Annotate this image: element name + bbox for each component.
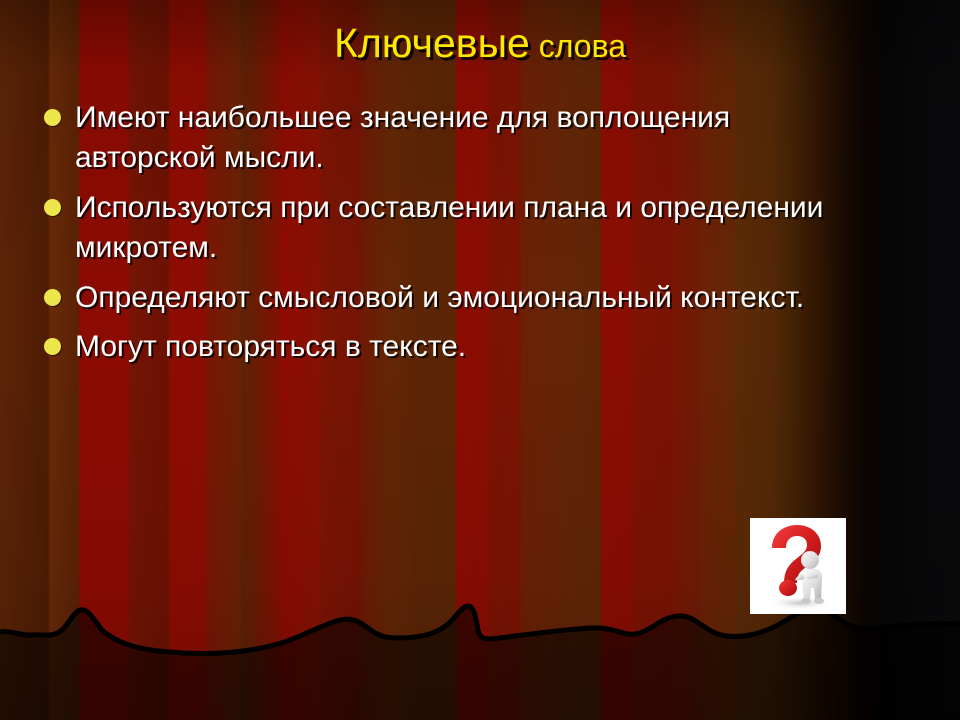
- list-item: Используются при составлении плана и опр…: [44, 188, 874, 268]
- slide-title-sub: слова: [530, 28, 626, 64]
- bullet-text: Могут повторяться в тексте.: [75, 327, 874, 367]
- bullet-text: Используются при составлении плана и опр…: [75, 188, 874, 268]
- presentation-slide: Ключевые слова Имеют наибольшее значение…: [0, 0, 960, 720]
- bullet-dot-icon: [44, 199, 61, 216]
- list-item: Могут повторяться в тексте.: [44, 327, 874, 367]
- bullet-dot-icon: [44, 338, 61, 355]
- question-mark-figure-image: [750, 518, 846, 614]
- bottom-wave-decoration: [0, 600, 960, 720]
- bullet-dot-icon: [44, 289, 61, 306]
- bullet-text: Имеют наибольшее значение для воплощения…: [75, 98, 874, 178]
- list-item: Определяют смысловой и эмоциональный кон…: [44, 278, 874, 318]
- slide-title: Ключевые слова: [0, 22, 960, 65]
- bullet-list: Имеют наибольшее значение для воплощения…: [44, 98, 874, 377]
- slide-title-main: Ключевые: [334, 20, 530, 66]
- question-mark-icon: [750, 518, 846, 614]
- bullet-dot-icon: [44, 109, 61, 126]
- bullet-text: Определяют смысловой и эмоциональный кон…: [75, 278, 874, 318]
- list-item: Имеют наибольшее значение для воплощения…: [44, 98, 874, 178]
